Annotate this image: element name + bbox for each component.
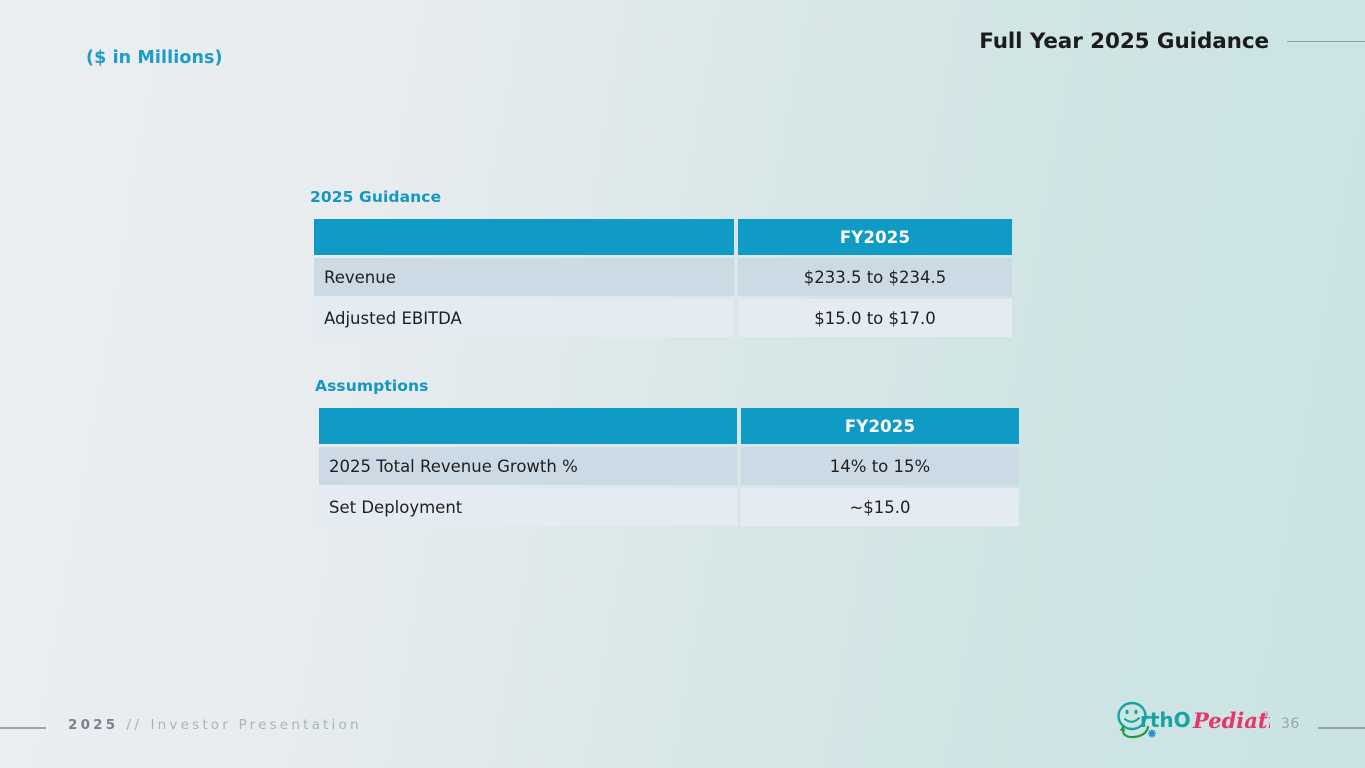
footer-year: 2025 <box>68 717 118 733</box>
slide-title-group: Full Year 2025 Guidance <box>979 29 1365 54</box>
assumptions-row-value-set-deployment: ~$15.0 <box>741 488 1019 526</box>
table-row: Revenue $233.5 to $234.5 <box>314 258 1012 296</box>
guidance-row-label-revenue: Revenue <box>314 258 734 296</box>
section-label-guidance: 2025 Guidance <box>310 188 1016 206</box>
assumptions-row-label-revenue-growth: 2025 Total Revenue Growth % <box>319 447 737 485</box>
units-label: ($ in Millions) <box>86 48 223 68</box>
assumptions-row-value-revenue-growth: 14% to 15% <box>741 447 1019 485</box>
footer-divider-left <box>0 727 46 729</box>
footer-caption: 2025 // Investor Presentation <box>68 717 362 733</box>
footer-separator: // <box>126 717 142 733</box>
section-label-assumptions: Assumptions <box>315 377 1023 395</box>
page-title: Full Year 2025 Guidance <box>979 29 1269 54</box>
logo-artwork: rthO Pediatrics ® <box>1110 700 1270 746</box>
slide-canvas: ($ in Millions) Full Year 2025 Guidance … <box>0 0 1365 768</box>
footer-subtitle: Investor Presentation <box>150 717 361 733</box>
section-assumptions: Assumptions FY2025 2025 Total Revenue Gr… <box>315 377 1023 529</box>
table-row: Adjusted EBITDA $15.0 to $17.0 <box>314 299 1012 337</box>
guidance-table: FY2025 Revenue $233.5 to $234.5 Adjusted… <box>310 216 1016 340</box>
logo-trademark-icon: ® <box>1262 711 1269 719</box>
page-number: 36 <box>1281 716 1300 732</box>
assumptions-col-header-fy2025: FY2025 <box>741 408 1019 444</box>
table-row: Set Deployment ~$15.0 <box>319 488 1019 526</box>
table-row: 2025 Total Revenue Growth % 14% to 15% <box>319 447 1019 485</box>
footer-divider-right <box>1318 727 1365 729</box>
guidance-row-value-revenue: $233.5 to $234.5 <box>738 258 1012 296</box>
logo-text-secondary: Pediatrics <box>1192 708 1270 733</box>
logo-text-primary: rthO <box>1140 708 1191 732</box>
guidance-row-value-adjusted-ebitda: $15.0 to $17.0 <box>738 299 1012 337</box>
guidance-col-header-fy2025: FY2025 <box>738 219 1012 255</box>
table-header-row: FY2025 <box>314 219 1012 255</box>
assumptions-row-label-set-deployment: Set Deployment <box>319 488 737 526</box>
section-2025-guidance: 2025 Guidance FY2025 Revenue $233.5 to $… <box>310 188 1016 340</box>
guidance-col-header-blank <box>314 219 734 255</box>
assumptions-col-header-blank <box>319 408 737 444</box>
assumptions-table: FY2025 2025 Total Revenue Growth % 14% t… <box>315 405 1023 529</box>
orthopediatrics-logo: rthO Pediatrics ® <box>1110 700 1270 746</box>
table-header-row: FY2025 <box>319 408 1019 444</box>
guidance-row-label-adjusted-ebitda: Adjusted EBITDA <box>314 299 734 337</box>
title-divider <box>1287 41 1365 43</box>
